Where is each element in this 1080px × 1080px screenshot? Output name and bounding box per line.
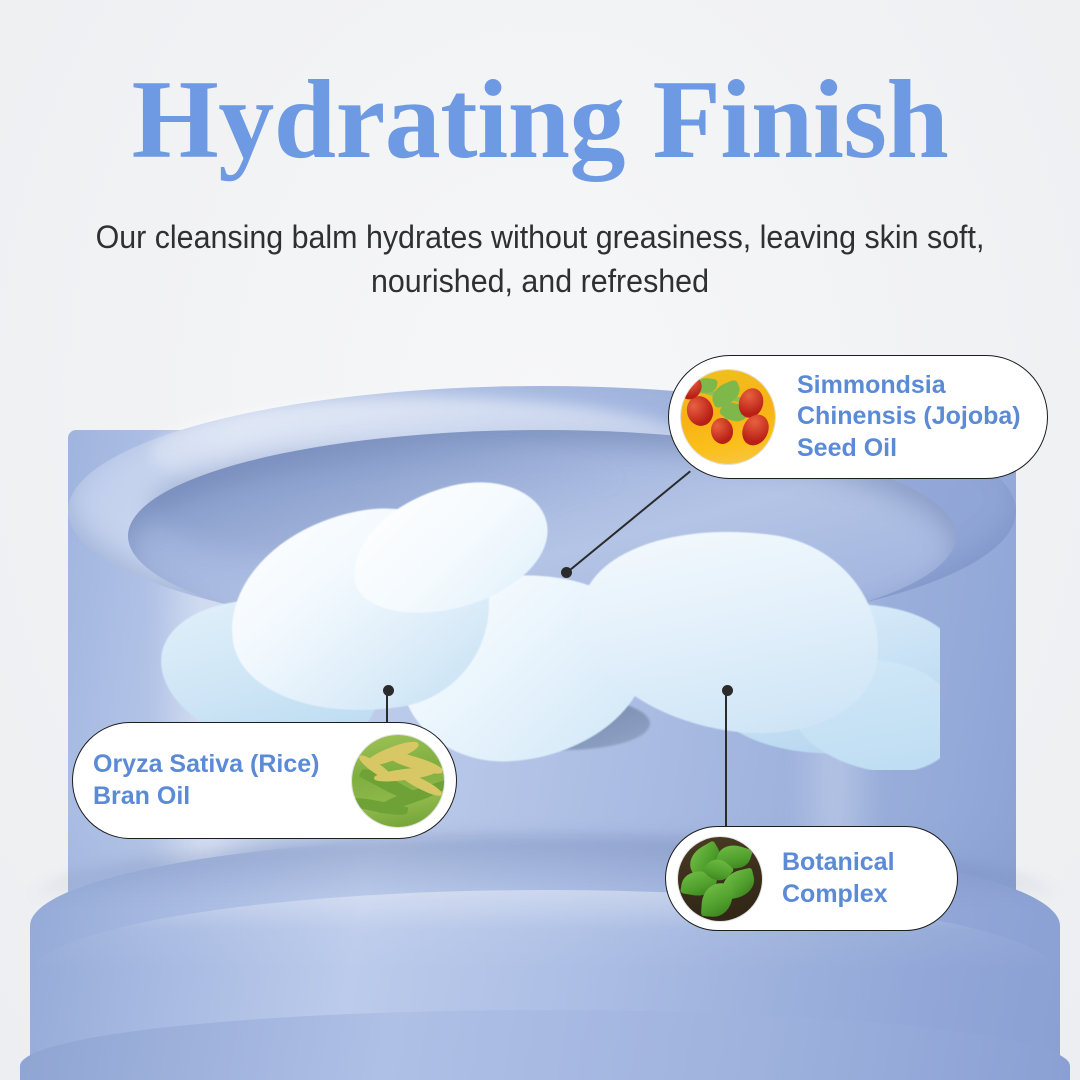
pointer-dot-botanical — [722, 685, 733, 696]
callout-card-jojoba[interactable]: Simmondsia Chinensis (Jojoba) Seed Oil — [668, 355, 1048, 479]
pointer-dot-rice — [383, 685, 394, 696]
callout-card-botanical[interactable]: Botanical Complex — [665, 826, 958, 931]
rice-stalks-photo — [352, 735, 444, 827]
pointer-line-botanical — [725, 690, 727, 832]
callout-label-jojoba: Simmondsia Chinensis (Jojoba) Seed Oil — [797, 370, 1021, 465]
callout-label-rice-bran: Oryza Sativa (Rice) Bran Oil — [93, 749, 352, 812]
pointer-dot-jojoba — [561, 567, 572, 578]
mint-leaves-photo — [678, 837, 762, 921]
page-title: Hydrating Finish — [0, 62, 1080, 180]
jojoba-berries-photo — [681, 370, 775, 464]
page-subtitle: Our cleansing balm hydrates without grea… — [27, 215, 1053, 303]
callout-label-botanical: Botanical Complex — [782, 847, 895, 910]
callout-card-rice-bran[interactable]: Oryza Sativa (Rice) Bran Oil — [72, 722, 457, 839]
infographic-canvas: Hydrating Finish Our cleansing balm hydr… — [0, 0, 1080, 1080]
